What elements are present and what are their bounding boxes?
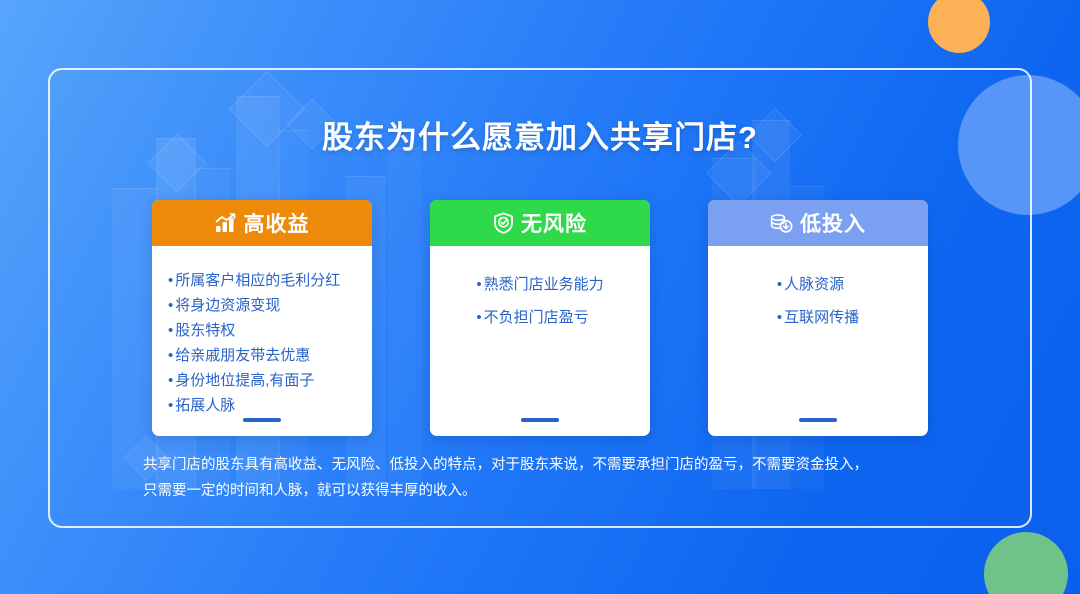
card-header-low-investment: 低投入 xyxy=(708,200,928,246)
list-item: 不负担门店盈亏 xyxy=(476,301,603,334)
summary-line-1: 共享门店的股东具有高收益、无风险、低投入的特点，对于股东来说，不需要承担门店的盈… xyxy=(143,452,943,478)
coins-down-arrow-icon xyxy=(770,213,793,234)
card-header-no-risk: 无风险 xyxy=(430,200,650,246)
benefit-card-low-investment[interactable]: 低投入 人脉资源 互联网传播 xyxy=(708,200,928,436)
card-bottom-divider xyxy=(243,418,281,422)
benefit-list-low-investment: 人脉资源 互联网传播 xyxy=(777,268,859,334)
card-header-label: 高收益 xyxy=(244,208,310,238)
card-bottom-divider xyxy=(799,418,837,422)
benefit-list-no-risk: 熟悉门店业务能力 不负担门店盈亏 xyxy=(476,268,603,334)
summary-paragraph: 共享门店的股东具有高收益、无风险、低投入的特点，对于股东来说，不需要承担门店的盈… xyxy=(143,452,943,504)
list-item: 所属客户相应的毛利分红 xyxy=(168,268,360,293)
decorative-circle-green xyxy=(984,532,1068,594)
card-bottom-divider xyxy=(521,418,559,422)
page-title: 股东为什么愿意加入共享门店? xyxy=(0,112,1080,157)
card-body-high-return: 所属客户相应的毛利分红 将身边资源变现 股东特权 给亲戚朋友带去优惠 身份地位提… xyxy=(152,246,372,436)
list-item: 互联网传播 xyxy=(777,301,859,334)
list-item: 熟悉门店业务能力 xyxy=(476,268,603,301)
summary-line-2: 只需要一定的时间和人脉，就可以获得丰厚的收入。 xyxy=(143,478,943,504)
slide-canvas: 股东为什么愿意加入共享门店? 高收益 所属客户相应的毛利分 xyxy=(0,0,1080,594)
list-item: 拓展人脉 xyxy=(168,393,360,418)
card-header-high-return: 高收益 xyxy=(152,200,372,246)
benefit-card-list: 高收益 所属客户相应的毛利分红 将身边资源变现 股东特权 给亲戚朋友带去优惠 身… xyxy=(152,200,928,436)
card-body-low-investment: 人脉资源 互联网传播 xyxy=(708,246,928,436)
card-body-no-risk: 熟悉门店业务能力 不负担门店盈亏 xyxy=(430,246,650,436)
decorative-circle-orange xyxy=(928,0,990,53)
list-item: 股东特权 xyxy=(168,318,360,343)
benefit-card-no-risk[interactable]: 无风险 熟悉门店业务能力 不负担门店盈亏 xyxy=(430,200,650,436)
card-header-label: 低投入 xyxy=(800,208,866,238)
list-item: 将身边资源变现 xyxy=(168,293,360,318)
list-item: 人脉资源 xyxy=(777,268,859,301)
card-header-label: 无风险 xyxy=(521,208,587,238)
shield-check-icon xyxy=(493,212,514,234)
benefit-card-high-return[interactable]: 高收益 所属客户相应的毛利分红 将身边资源变现 股东特权 给亲戚朋友带去优惠 身… xyxy=(152,200,372,436)
bar-chart-growth-icon xyxy=(215,213,237,233)
list-item: 身份地位提高,有面子 xyxy=(168,368,360,393)
list-item: 给亲戚朋友带去优惠 xyxy=(168,343,360,368)
benefit-list-high-return: 所属客户相应的毛利分红 将身边资源变现 股东特权 给亲戚朋友带去优惠 身份地位提… xyxy=(168,268,360,418)
